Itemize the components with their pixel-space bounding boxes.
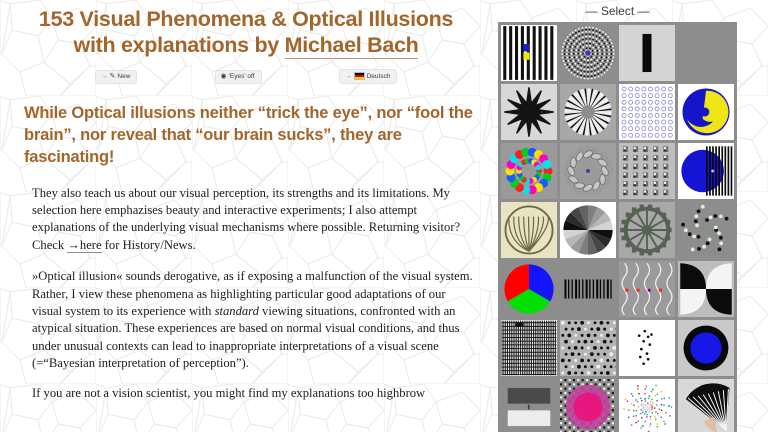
thumb-gray-wedge-wheel[interactable]: [560, 202, 616, 258]
thumb-blue-disc-black-ring[interactable]: [678, 320, 734, 376]
deutsch-button-label: Deutsch: [367, 73, 391, 80]
thumb-green-gear-wheel[interactable]: [619, 202, 675, 258]
deutsch-language-button[interactable]: → Deutsch: [339, 69, 398, 84]
thumb-hyperbolic-quadrants[interactable]: [678, 261, 734, 317]
thumb-colorful-pinwheel[interactable]: [501, 143, 557, 199]
eyes-toggle-label: 'Eyes' off: [229, 73, 255, 80]
new-button-label: New: [117, 73, 130, 80]
thumb-magenta-disc-halo[interactable]: [560, 379, 616, 432]
thumb-blue-disc-stripes[interactable]: [678, 143, 734, 199]
paragraph-definition: »Optical illusion« sounds derogative, as…: [32, 268, 478, 372]
thumb-zigzag-starburst[interactable]: [501, 84, 557, 140]
page-title-author[interactable]: Michael Bach: [285, 33, 419, 59]
new-sparkle-icon: ✎: [110, 73, 116, 80]
thumb-radial-spiky-rosette[interactable]: [560, 84, 616, 140]
thumb-cafe-wall-tiles[interactable]: [619, 143, 675, 199]
thumb-plain-gray[interactable]: [678, 25, 734, 81]
toolbar: → ✎ New ◉ 'Eyes' off → Deutsch: [0, 69, 492, 84]
select-panel: — Select —: [492, 0, 768, 432]
eyes-toggle-button[interactable]: ◉ 'Eyes' off: [215, 70, 262, 84]
thumb-concentric-checker-rings[interactable]: [560, 25, 616, 81]
thumb-black-bar-on-light[interactable]: [619, 25, 675, 81]
thumb-vertical-barcode[interactable]: [560, 261, 616, 317]
eye-icon: ◉: [221, 73, 227, 80]
thumb-vertical-stripes-color-squares[interactable]: [501, 25, 557, 81]
illusion-thumbnail-grid[interactable]: [498, 22, 737, 432]
thumb-wavy-lines-red-dots[interactable]: [619, 261, 675, 317]
thumb-dotted-circles-grid[interactable]: [619, 84, 675, 140]
arrow-right-icon: →: [101, 73, 108, 80]
paragraph-intro-tail: for History/News.: [102, 238, 196, 252]
thumb-sparse-black-dots[interactable]: [619, 320, 675, 376]
emphasis-standard: standard: [215, 304, 259, 318]
lead-heading: While Optical illusions neither “trick t…: [24, 103, 478, 168]
thumb-op-art-moire[interactable]: [501, 320, 557, 376]
german-flag-icon: [354, 72, 365, 80]
paragraph-intro: They also teach us about our visual perc…: [32, 185, 478, 255]
paragraph-highbrow: If you are not a vision scientist, you m…: [32, 385, 478, 402]
thumb-blue-yellow-spiral[interactable]: [678, 84, 734, 140]
thumb-black-folded-fan[interactable]: [678, 379, 734, 432]
select-panel-heading: — Select —: [496, 0, 739, 18]
thumb-gray-rotating-snakes[interactable]: [560, 143, 616, 199]
main-content-column: 153 Visual Phenomena & Optical Illusions…: [0, 0, 492, 432]
page-title-line1: 153 Visual Phenomena & Optical Illusions: [39, 7, 453, 31]
thumb-fan-lines-circle[interactable]: [501, 202, 557, 258]
history-news-link[interactable]: →here: [67, 238, 101, 253]
page-title-line2-prefix: with explanations by: [74, 33, 285, 57]
thumb-diagonal-dot-lattice[interactable]: [560, 320, 616, 376]
arrow-right-icon: →: [345, 73, 352, 80]
new-button[interactable]: → ✎ New: [95, 70, 138, 84]
thumb-rgb-pie-chart[interactable]: [501, 261, 557, 317]
thumb-confetti-cluster[interactable]: [619, 379, 675, 432]
page-title: 153 Visual Phenomena & Optical Illusions…: [14, 6, 478, 58]
thumb-two-gray-rectangles[interactable]: [501, 379, 557, 432]
thumb-scattered-dots-ring[interactable]: [678, 202, 734, 258]
